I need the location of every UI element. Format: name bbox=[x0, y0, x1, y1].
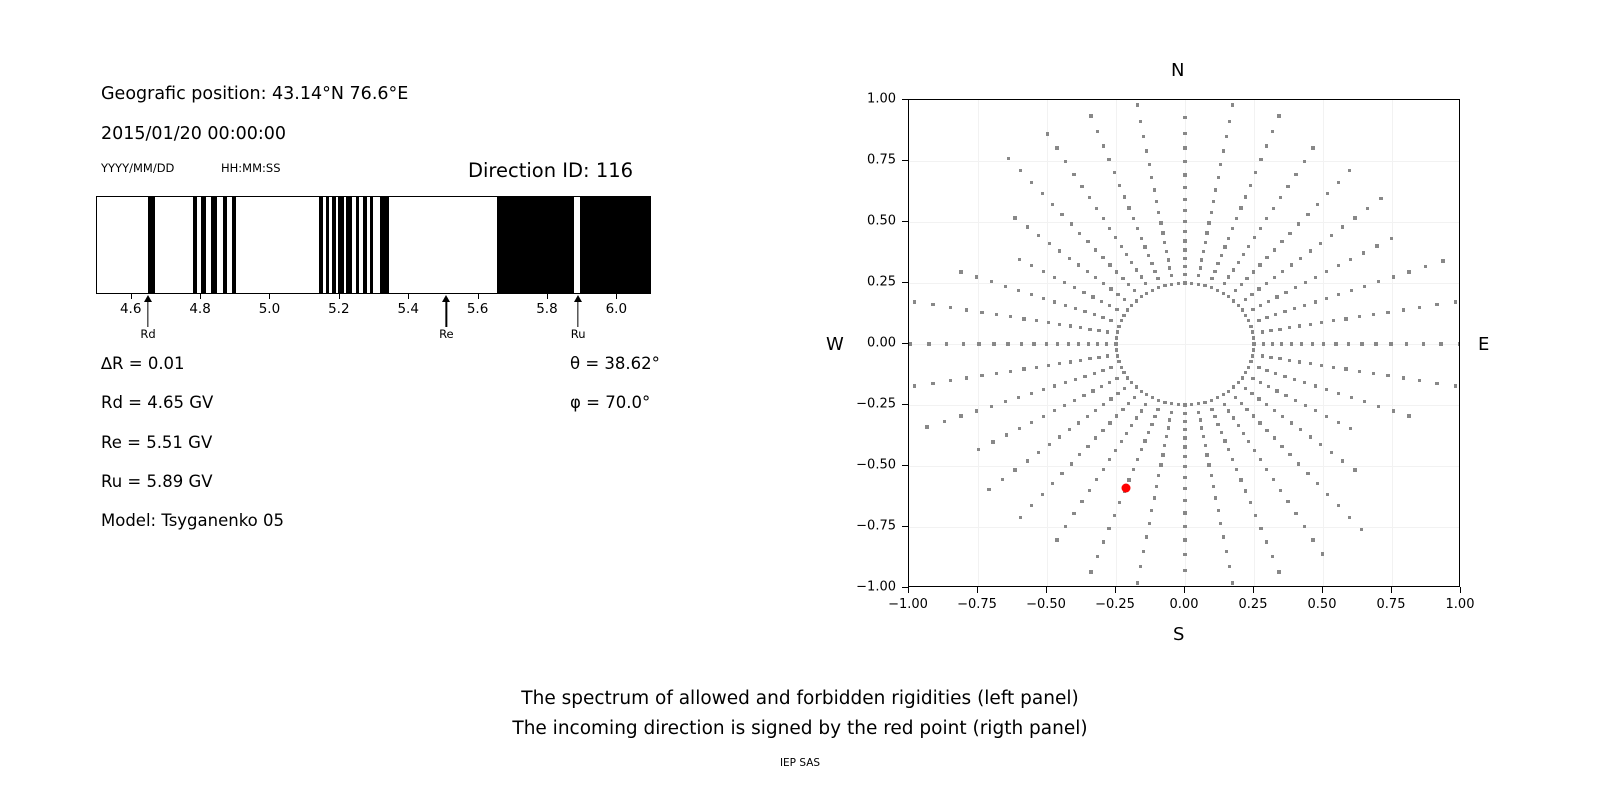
xaxis-tick-label: 1.00 bbox=[1446, 597, 1475, 612]
incoming-direction-axis-labels: −1.00−0.75−0.50−0.250.000.250.500.751.00… bbox=[0, 0, 1600, 800]
yaxis-tick-label: 0.50 bbox=[840, 214, 896, 229]
yaxis-tick-label: 0.25 bbox=[840, 275, 896, 290]
yaxis-tick bbox=[902, 343, 908, 344]
xaxis-tick bbox=[1184, 587, 1185, 593]
xaxis-tick bbox=[1460, 587, 1461, 593]
yaxis-tick bbox=[902, 282, 908, 283]
xaxis-tick-label: 0.50 bbox=[1308, 597, 1337, 612]
xaxis-tick-label: −0.50 bbox=[1026, 597, 1066, 612]
yaxis-tick bbox=[902, 404, 908, 405]
xaxis-tick bbox=[1322, 587, 1323, 593]
yaxis-tick-label: −0.25 bbox=[840, 397, 896, 412]
yaxis-tick-label: 0.75 bbox=[840, 153, 896, 168]
xaxis-tick-label: 0.25 bbox=[1239, 597, 1268, 612]
xaxis-tick bbox=[1253, 587, 1254, 593]
xaxis-tick-label: 0.75 bbox=[1377, 597, 1406, 612]
xaxis-tick bbox=[1115, 587, 1116, 593]
caption-line-1: The spectrum of allowed and forbidden ri… bbox=[0, 688, 1600, 709]
xaxis-tick bbox=[908, 587, 909, 593]
caption-line-2: The incoming direction is signed by the … bbox=[0, 718, 1600, 739]
xaxis-tick bbox=[1046, 587, 1047, 593]
yaxis-tick-label: 1.00 bbox=[840, 92, 896, 107]
xaxis-tick-label: −0.25 bbox=[1095, 597, 1135, 612]
yaxis-tick bbox=[902, 526, 908, 527]
yaxis-tick bbox=[902, 465, 908, 466]
xaxis-tick bbox=[977, 587, 978, 593]
yaxis-tick-label: −1.00 bbox=[840, 580, 896, 595]
xaxis-tick-label: −1.00 bbox=[888, 597, 928, 612]
xaxis-tick-label: −0.75 bbox=[957, 597, 997, 612]
yaxis-tick bbox=[902, 221, 908, 222]
yaxis-tick-label: −0.75 bbox=[840, 519, 896, 534]
yaxis-tick bbox=[902, 99, 908, 100]
yaxis-tick-label: −0.50 bbox=[840, 458, 896, 473]
xaxis-tick bbox=[1391, 587, 1392, 593]
yaxis-tick-label: 0.00 bbox=[840, 336, 896, 351]
yaxis-tick bbox=[902, 160, 908, 161]
footer-text: IEP SAS bbox=[0, 757, 1600, 769]
xaxis-tick-label: 0.00 bbox=[1170, 597, 1199, 612]
